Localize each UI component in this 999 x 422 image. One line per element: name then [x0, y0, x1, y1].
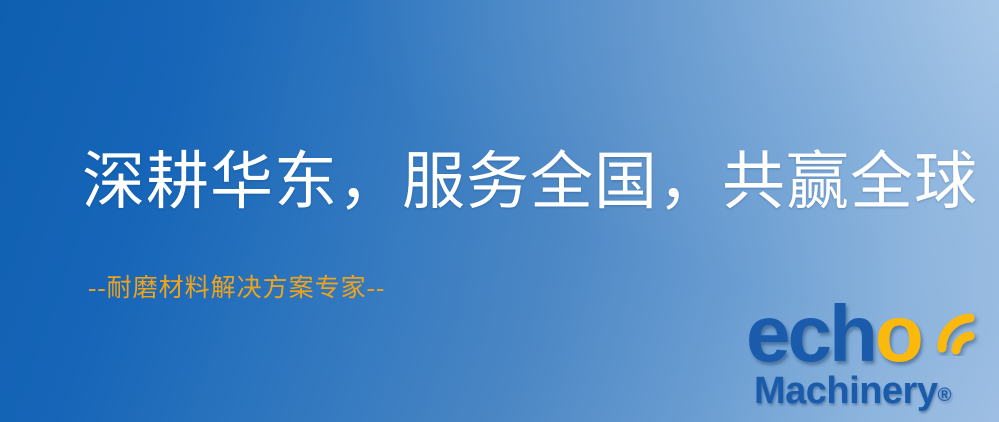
banner-subtitle: --耐磨材料解决方案专家-- [88, 268, 385, 304]
banner-headline: 深耕华东，服务全国，共赢全球 [82, 148, 978, 216]
logo-letter-o: o [875, 289, 921, 378]
promo-banner: 深耕华东，服务全国，共赢全球 --耐磨材料解决方案专家-- echo Machi… [0, 0, 999, 422]
logo-machinery-text: Machinery® [754, 370, 951, 413]
echo-machinery-logo[interactable]: echo Machinery® [744, 294, 996, 420]
logo-wordmark: echo [744, 294, 996, 372]
logo-echo-text: echo [746, 288, 921, 380]
registered-trademark-icon: ® [937, 385, 951, 406]
logo-word-ech: ech [746, 289, 875, 378]
signal-waves-icon [930, 290, 999, 356]
logo-word-machinery: Machinery [754, 370, 937, 412]
